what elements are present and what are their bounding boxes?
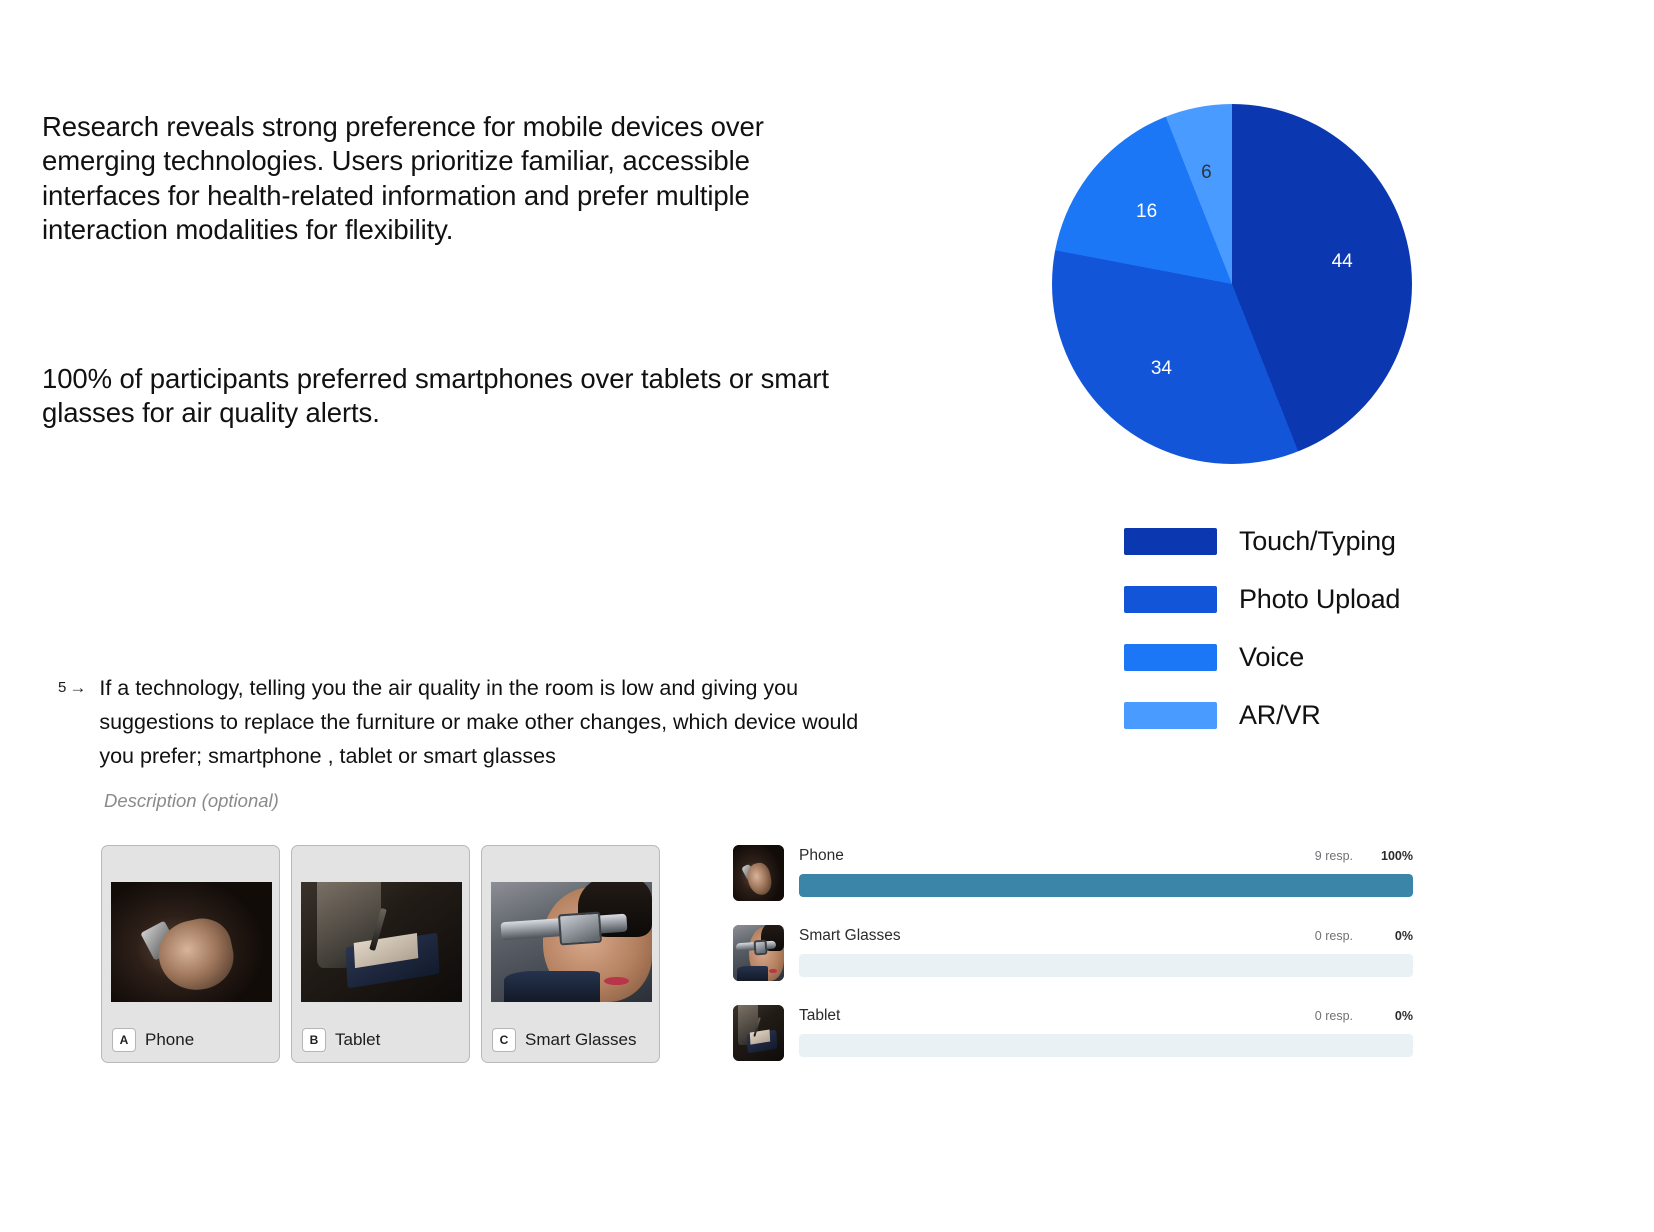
- legend-label: Voice: [1239, 642, 1304, 673]
- result-head: Phone9 resp.100%: [799, 847, 1413, 865]
- question-block: 5 → If a technology, telling you the air…: [58, 672, 888, 812]
- result-option-label: Phone: [799, 847, 844, 865]
- option-card-b-labelrow: B Tablet: [302, 1028, 380, 1052]
- legend-label: Photo Upload: [1239, 584, 1400, 615]
- legend-item-1[interactable]: Photo Upload: [1124, 570, 1454, 628]
- pie-legend: Touch/TypingPhoto UploadVoiceAR/VR: [1124, 512, 1454, 744]
- legend-swatch-icon: [1124, 644, 1217, 671]
- option-label-a: Phone: [145, 1030, 194, 1050]
- result-stats: 9 resp.100%: [1315, 849, 1413, 863]
- narrative-paragraph-2: 100% of participants preferred smartphon…: [42, 362, 872, 431]
- result-option-label: Tablet: [799, 1007, 840, 1025]
- pie-chart: 4434166: [1052, 104, 1412, 464]
- legend-item-3[interactable]: AR/VR: [1124, 686, 1454, 744]
- result-head: Smart Glasses0 resp.0%: [799, 927, 1413, 945]
- result-bar-track: [799, 954, 1413, 977]
- result-main: Phone9 resp.100%: [799, 845, 1413, 897]
- result-head: Tablet0 resp.0%: [799, 1007, 1413, 1025]
- result-response-count: 9 resp.: [1315, 849, 1353, 863]
- option-card-c-labelrow: C Smart Glasses: [492, 1028, 636, 1052]
- result-main: Tablet0 resp.0%: [799, 1005, 1413, 1057]
- phone-photo: [111, 882, 272, 1002]
- phone-photo-thumb: [733, 845, 784, 901]
- result-row: Tablet0 resp.0%: [733, 1005, 1413, 1067]
- result-response-count: 0 resp.: [1315, 929, 1353, 943]
- legend-swatch-icon: [1124, 528, 1217, 555]
- question-text: If a technology, telling you the air qua…: [99, 672, 869, 774]
- question-row: 5 → If a technology, telling you the air…: [58, 672, 888, 774]
- tablet-photo-thumb: [733, 1005, 784, 1061]
- result-response-count: 0 resp.: [1315, 1009, 1353, 1023]
- legend-label: AR/VR: [1239, 700, 1321, 731]
- result-percent: 0%: [1377, 929, 1413, 943]
- option-card-b[interactable]: B Tablet: [291, 845, 470, 1063]
- legend-swatch-icon: [1124, 702, 1217, 729]
- option-label-b: Tablet: [335, 1030, 380, 1050]
- result-row: Smart Glasses0 resp.0%: [733, 925, 1413, 987]
- question-number: 5: [58, 672, 66, 695]
- pie-slice-value-2: 16: [1136, 201, 1157, 223]
- result-row: Phone9 resp.100%: [733, 845, 1413, 907]
- option-card-c[interactable]: C Smart Glasses: [481, 845, 660, 1063]
- option-label-c: Smart Glasses: [525, 1030, 636, 1050]
- option-key-badge-b: B: [302, 1028, 326, 1052]
- legend-swatch-icon: [1124, 586, 1217, 613]
- result-option-label: Smart Glasses: [799, 927, 901, 945]
- option-cards: A Phone B Tablet: [101, 845, 660, 1063]
- option-key-badge-c: C: [492, 1028, 516, 1052]
- result-bar-fill: [799, 874, 1413, 897]
- question-description-placeholder[interactable]: Description (optional): [104, 790, 888, 812]
- tablet-photo: [301, 882, 462, 1002]
- option-card-a[interactable]: A Phone: [101, 845, 280, 1063]
- narrative-paragraph-1: Research reveals strong preference for m…: [42, 110, 862, 248]
- result-bar-track: [799, 874, 1413, 897]
- pie-disc: [1052, 104, 1412, 464]
- result-main: Smart Glasses0 resp.0%: [799, 925, 1413, 977]
- legend-label: Touch/Typing: [1239, 526, 1396, 557]
- option-card-a-labelrow: A Phone: [112, 1028, 194, 1052]
- smart-glasses-photo-thumb: [733, 925, 784, 981]
- option-key-badge-a: A: [112, 1028, 136, 1052]
- pie-slice-value-3: 6: [1201, 162, 1212, 184]
- pie-slice-value-0: 44: [1332, 251, 1353, 273]
- result-percent: 0%: [1377, 1009, 1413, 1023]
- slide-canvas: Research reveals strong preference for m…: [0, 0, 1654, 1232]
- result-stats: 0 resp.0%: [1315, 1009, 1413, 1023]
- pie-slice-value-1: 34: [1151, 358, 1172, 380]
- smart-glasses-photo: [491, 882, 652, 1002]
- legend-item-2[interactable]: Voice: [1124, 628, 1454, 686]
- arrow-right-icon: →: [66, 672, 86, 698]
- legend-item-0[interactable]: Touch/Typing: [1124, 512, 1454, 570]
- results-panel: Phone9 resp.100%Smart Glasses0 resp.0%Ta…: [733, 845, 1413, 1085]
- result-percent: 100%: [1377, 849, 1413, 863]
- result-bar-track: [799, 1034, 1413, 1057]
- result-stats: 0 resp.0%: [1315, 929, 1413, 943]
